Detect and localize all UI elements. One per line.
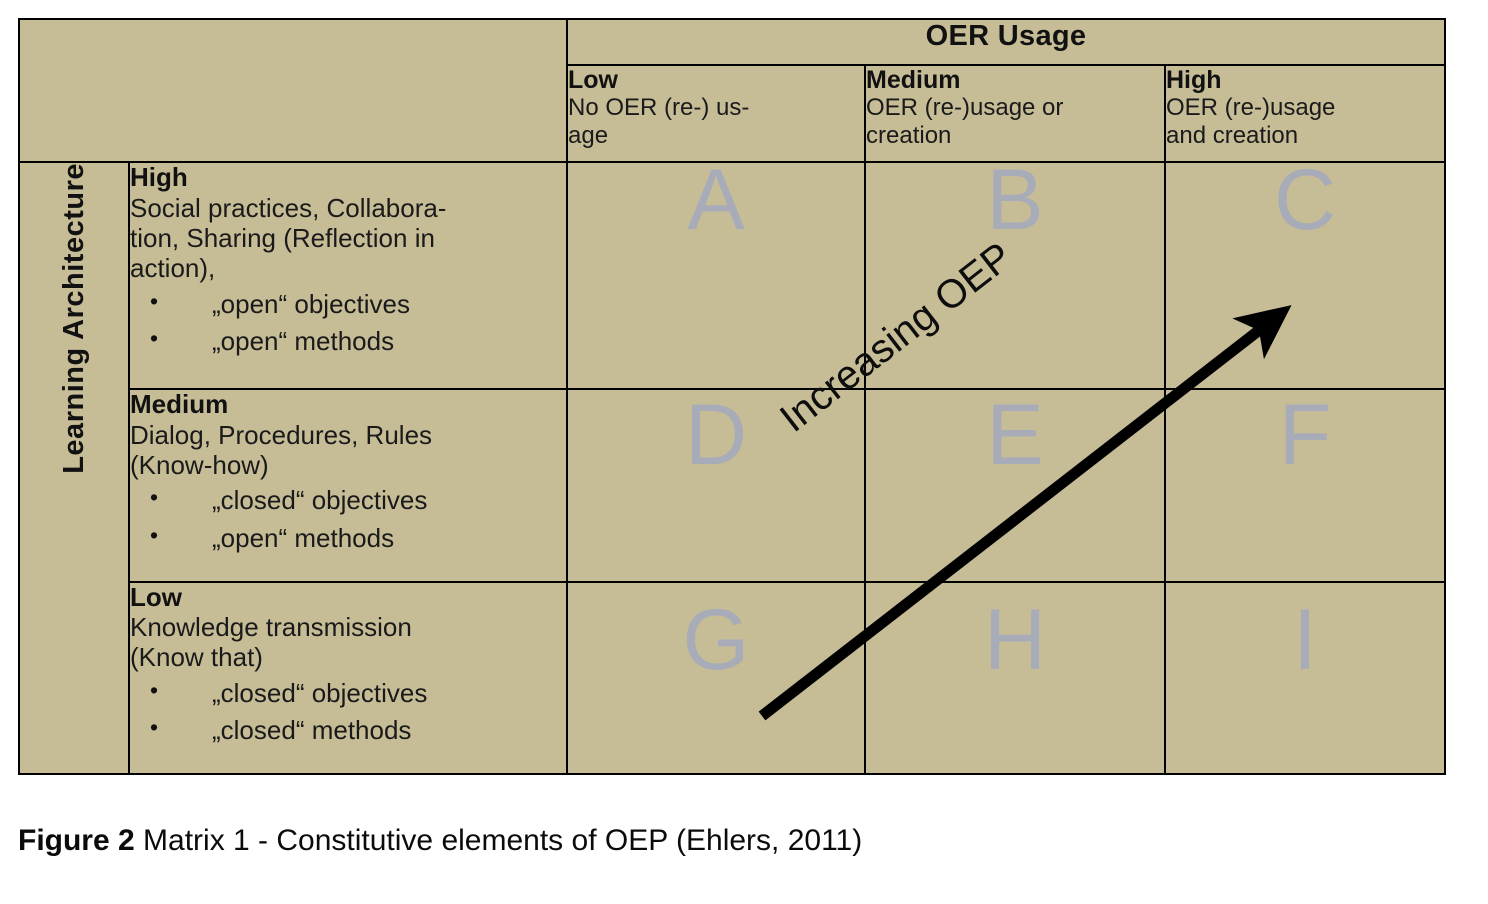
row-header-low-desc: Knowledge transmission (Know that) — [130, 612, 566, 673]
matrix-table: OER Usage Low No OER (re-) us- age Mediu… — [18, 18, 1446, 775]
matrix-cell-letter: I — [1166, 597, 1444, 683]
column-axis-title: OER Usage — [926, 20, 1087, 52]
row-header-high-title: High — [130, 163, 566, 192]
figure-container: OER Usage Low No OER (re-) us- age Mediu… — [0, 0, 1488, 904]
matrix-cell-letter: H — [866, 597, 1164, 683]
list-item: „closed“ objectives — [212, 482, 566, 520]
matrix-cell-letter: G — [568, 597, 864, 683]
row-axis-title: Learning Architecture — [58, 163, 91, 474]
column-header-high-desc: OER (re-)usage and creation — [1166, 94, 1444, 150]
row-header-high-bullets: „open“ objectives „open“ methods — [130, 286, 566, 361]
row-header-high-desc: Social practices, Collabora- tion, Shari… — [130, 193, 566, 284]
column-header-high: High OER (re-)usage and creation — [1165, 65, 1445, 162]
row-header-medium: Medium Dialog, Procedures, Rules (Know-h… — [129, 389, 567, 581]
matrix-cell-letter: A — [568, 157, 864, 243]
column-header-medium: Medium OER (re-)usage or creation — [865, 65, 1165, 162]
matrix-cell-H: H — [865, 582, 1165, 774]
list-item: „closed“ objectives — [212, 675, 566, 713]
row-header-low-bullets: „closed“ objectives „closed“ methods — [130, 675, 566, 750]
column-header-low: Low No OER (re-) us- age — [567, 65, 865, 162]
column-axis-title-cell: OER Usage — [567, 19, 1445, 65]
matrix-cell-letter: C — [1166, 157, 1444, 243]
figure-caption-label: Figure 2 — [18, 824, 135, 857]
matrix-cell-I: I — [1165, 582, 1445, 774]
matrix-row-medium: Medium Dialog, Procedures, Rules (Know-h… — [19, 389, 1445, 581]
figure-caption-text: Matrix 1 - Constitutive elements of OEP … — [135, 824, 863, 857]
matrix-corner-cell — [19, 19, 567, 162]
matrix-row-low: Low Knowledge transmission (Know that) „… — [19, 582, 1445, 774]
matrix-row-high: Learning Architecture High Social practi… — [19, 162, 1445, 389]
matrix-cell-E: E — [865, 389, 1165, 581]
list-item: „closed“ methods — [212, 712, 566, 750]
column-header-medium-title: Medium — [866, 66, 1164, 94]
list-item: „open“ methods — [212, 323, 566, 361]
matrix-cell-letter: B — [866, 157, 1164, 243]
row-header-low-title: Low — [130, 583, 566, 612]
row-header-medium-desc: Dialog, Procedures, Rules (Know-how) — [130, 420, 566, 481]
list-item: „open“ methods — [212, 520, 566, 558]
column-header-low-title: Low — [568, 66, 864, 94]
figure-caption: Figure 2 Matrix 1 - Constitutive element… — [18, 824, 862, 858]
matrix-cell-letter: F — [1166, 392, 1444, 478]
matrix-cell-G: G — [567, 582, 865, 774]
row-header-low: Low Knowledge transmission (Know that) „… — [129, 582, 567, 774]
row-header-high: High Social practices, Collabora- tion, … — [129, 162, 567, 389]
list-item: „open“ objectives — [212, 286, 566, 324]
column-header-low-desc: No OER (re-) us- age — [568, 94, 864, 150]
matrix-cell-C: C — [1165, 162, 1445, 389]
matrix-cell-F: F — [1165, 389, 1445, 581]
matrix-cell-letter: E — [866, 392, 1164, 478]
row-header-medium-bullets: „closed“ objectives „open“ methods — [130, 482, 566, 557]
column-header-high-title: High — [1166, 66, 1444, 94]
header-row-axis: OER Usage — [19, 19, 1445, 65]
oep-matrix: OER Usage Low No OER (re-) us- age Mediu… — [18, 18, 1444, 775]
row-axis-title-cell: Learning Architecture — [19, 162, 129, 774]
row-header-medium-title: Medium — [130, 390, 566, 419]
column-header-medium-desc: OER (re-)usage or creation — [866, 94, 1164, 150]
matrix-cell-A: A — [567, 162, 865, 389]
